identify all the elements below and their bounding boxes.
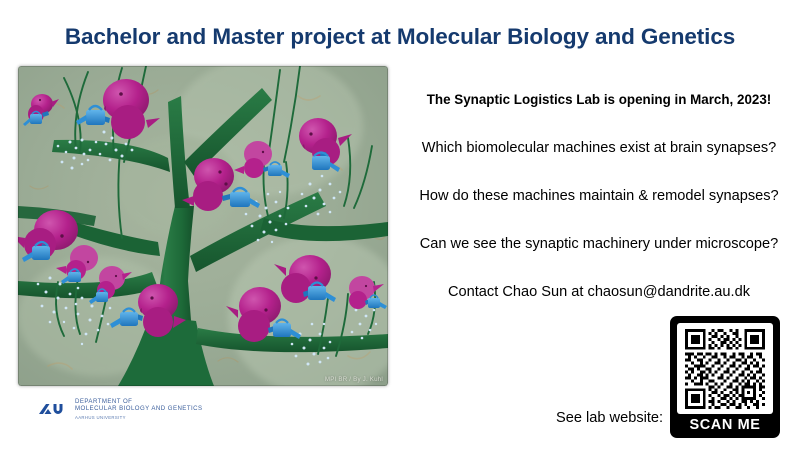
qr-scan-me-label: SCAN ME	[670, 417, 780, 433]
au-line-department: DEPARTMENT OF	[75, 398, 203, 405]
artwork-credit: MPI BR / By J. Kuhl	[325, 376, 383, 383]
qr-code-matrix[interactable]	[682, 326, 768, 412]
headline-lab-opening: The Synaptic Logistics Lab is opening in…	[398, 92, 800, 107]
artwork-illustration	[18, 66, 388, 386]
question-line-3: Can we see the synaptic machinery under …	[398, 236, 800, 252]
text-column: The Synaptic Logistics Lab is opening in…	[398, 92, 800, 300]
au-logo-text: DEPARTMENT OF MOLECULAR BIOLOGY AND GENE…	[75, 398, 203, 420]
au-monogram-icon	[38, 401, 68, 417]
question-line-1: Which biomolecular machines exist at bra…	[398, 140, 800, 156]
artwork-figure: MPI BR / By J. Kuhl	[18, 66, 388, 386]
question-line-2: How do these machines maintain & remodel…	[398, 188, 800, 204]
contact-line: Contact Chao Sun at chaosun@dandrite.au.…	[398, 284, 800, 300]
aarhus-university-logo: DEPARTMENT OF MOLECULAR BIOLOGY AND GENE…	[38, 398, 203, 420]
au-line-university: AARHUS UNIVERSITY	[75, 415, 203, 420]
qr-code-block[interactable]: SCAN ME	[670, 316, 780, 438]
page-title: Bachelor and Master project at Molecular…	[0, 24, 800, 50]
qr-code-surface[interactable]	[677, 323, 773, 414]
lab-website-prompt: See lab website:	[556, 410, 663, 426]
au-line-institute: MOLECULAR BIOLOGY AND GENETICS	[75, 405, 203, 412]
